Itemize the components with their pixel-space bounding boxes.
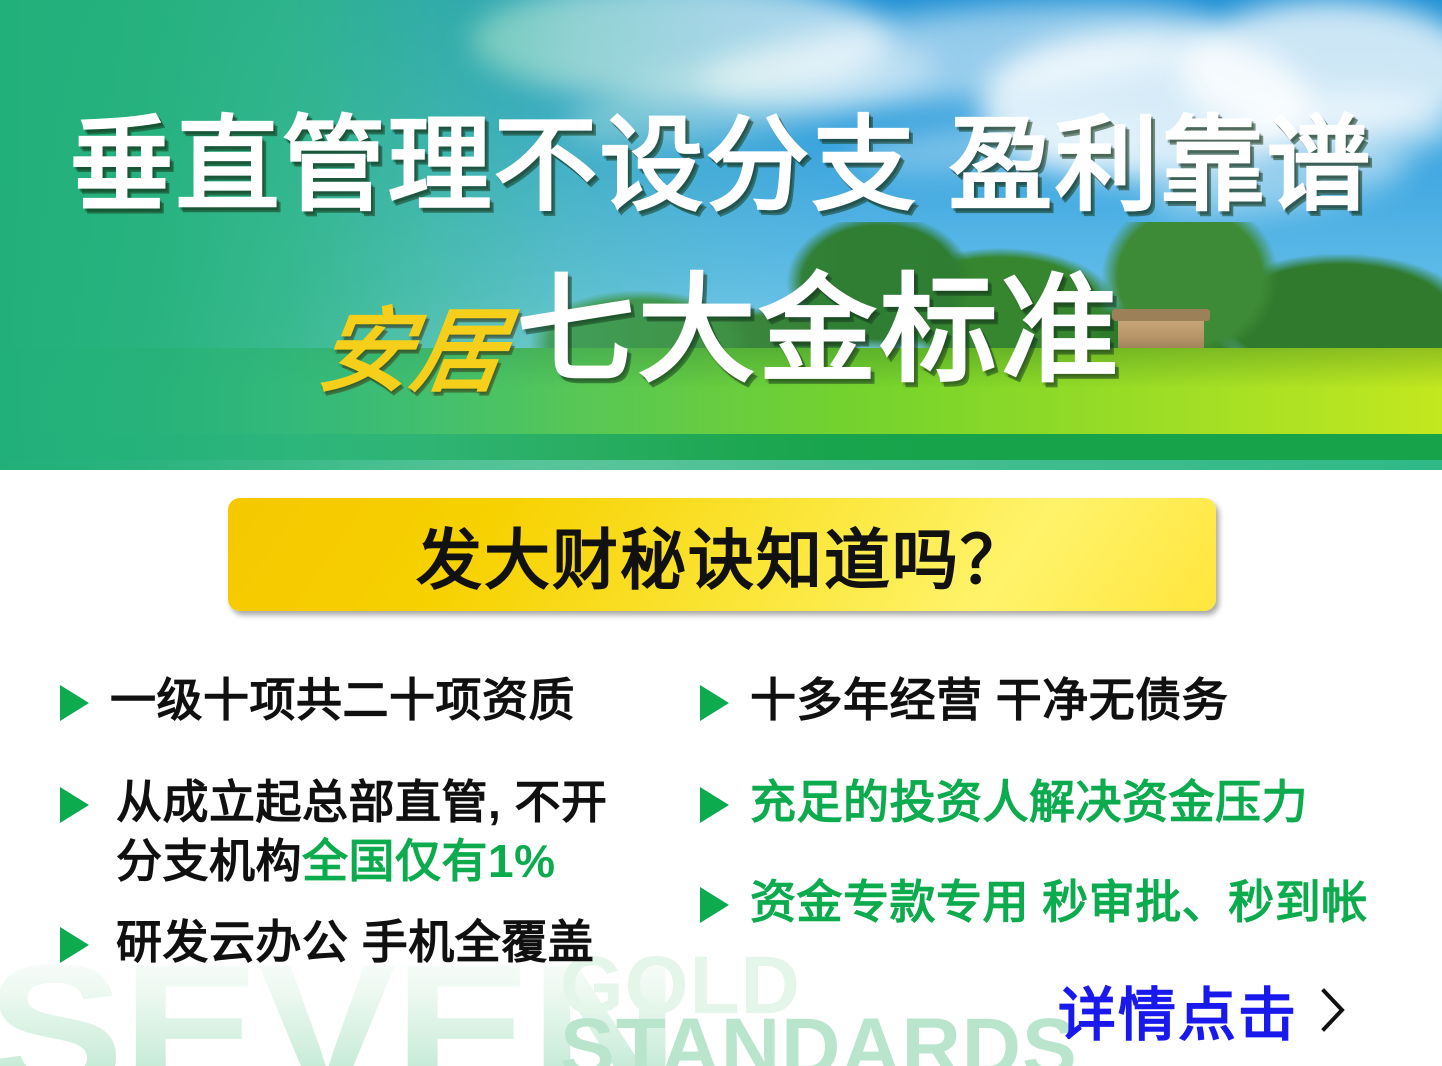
hero-text-group: 垂直管理不设分支 盈利靠谱 安居七大金标准 bbox=[0, 0, 1442, 470]
hero-banner: 垂直管理不设分支 盈利靠谱 安居七大金标准 bbox=[0, 0, 1442, 470]
question-banner-label: 发大财秘诀知道吗？ bbox=[416, 507, 1028, 603]
list-item-label: 研发云办公 手机全覆盖 bbox=[116, 913, 594, 972]
list-item: 十多年经营 干净无债务 bbox=[700, 671, 1228, 730]
chevron-right-icon bbox=[1320, 987, 1346, 1033]
headline-secondary: 七大金标准 bbox=[517, 272, 1122, 390]
list-item-label: 资金专款专用 秒审批、秒到帐 bbox=[750, 873, 1368, 932]
list-item: 研发云办公 手机全覆盖 bbox=[60, 913, 594, 972]
list-item-label: 一级十项共二十项资质 bbox=[110, 671, 575, 730]
triangle-bullet-icon bbox=[60, 927, 89, 963]
triangle-bullet-icon bbox=[700, 887, 729, 923]
headline-primary: 垂直管理不设分支 盈利靠谱 bbox=[0, 112, 1442, 221]
list-item-highlight: 全国仅有1% bbox=[302, 835, 555, 887]
brand-name-text: 安居 bbox=[314, 306, 513, 398]
triangle-bullet-icon bbox=[60, 787, 89, 823]
triangle-bullet-icon bbox=[700, 685, 729, 721]
list-item-line1: 从成立起总部直管, 不开 bbox=[116, 776, 608, 828]
triangle-bullet-icon bbox=[60, 685, 89, 721]
list-item-label: 从成立起总部直管, 不开分支机构全国仅有1% bbox=[116, 773, 608, 891]
triangle-bullet-icon bbox=[700, 787, 729, 823]
list-item: 一级十项共二十项资质 bbox=[60, 671, 575, 730]
watermark-standards: STANDARDS bbox=[560, 1007, 1078, 1066]
details-link[interactable]: 详情点击 bbox=[1058, 968, 1346, 1052]
list-item: 充足的投资人解决资金压力 bbox=[700, 773, 1308, 832]
list-item: 从成立起总部直管, 不开分支机构全国仅有1% bbox=[60, 773, 608, 891]
details-link-label: 详情点击 bbox=[1058, 968, 1298, 1052]
question-banner[interactable]: 发大财秘诀知道吗？ bbox=[228, 498, 1216, 611]
feature-bullets: 一级十项共二十项资质 从成立起总部直管, 不开分支机构全国仅有1% 研发云办公 … bbox=[0, 655, 1442, 1015]
advertisement-poster: 垂直管理不设分支 盈利靠谱 安居七大金标准 发大财秘诀知道吗？ SEVEN GO… bbox=[0, 0, 1442, 1066]
list-item-line2: 分支机构 bbox=[116, 835, 302, 887]
list-item: 资金专款专用 秒审批、秒到帐 bbox=[700, 873, 1368, 932]
list-item-label: 充足的投资人解决资金压力 bbox=[750, 773, 1308, 832]
list-item-label: 十多年经营 干净无债务 bbox=[750, 671, 1228, 730]
headline-secondary-row: 安居七大金标准 bbox=[0, 272, 1442, 398]
